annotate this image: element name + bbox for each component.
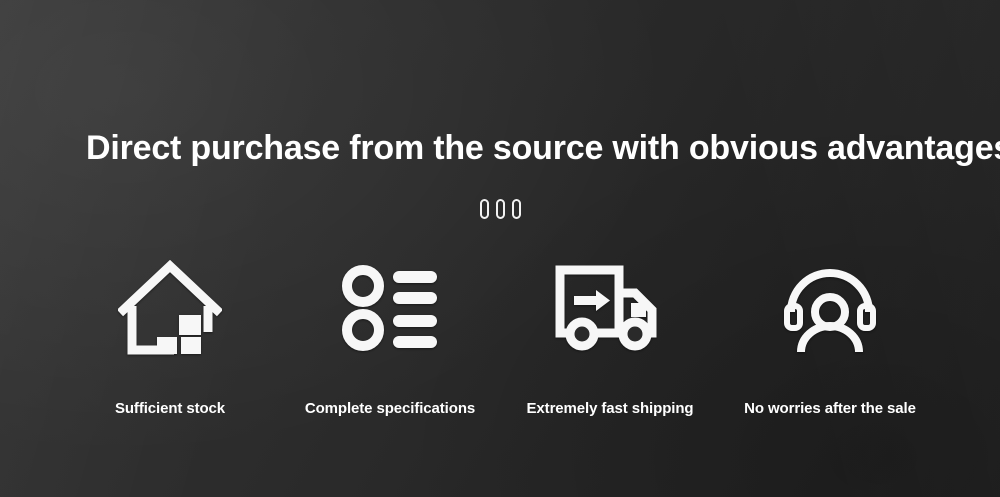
customer-support-headset-icon — [781, 258, 879, 358]
feature-item-complete-specifications: Complete specifications — [280, 258, 500, 417]
feature-label: Sufficient stock — [115, 400, 225, 417]
delivery-truck-icon — [555, 258, 665, 358]
feature-item-sufficient-stock: Sufficient stock — [60, 258, 280, 417]
feature-label: Complete specifications — [305, 400, 475, 417]
feature-list: Sufficient stock Complete specificat — [60, 258, 940, 417]
warehouse-icon — [118, 258, 222, 358]
feature-item-extremely-fast-shipping: Extremely fast shipping — [500, 258, 720, 417]
decorative-divider — [0, 196, 1000, 222]
page-title: Direct purchase from the source with obv… — [86, 127, 926, 169]
feature-label: Extremely fast shipping — [527, 400, 694, 417]
divider-pip-3-icon — [512, 199, 521, 219]
background-sheen — [0, 0, 1000, 497]
divider-pip-1-icon — [480, 199, 489, 219]
promo-banner: Direct purchase from the source with obv… — [0, 0, 1000, 497]
specification-list-icon — [340, 258, 440, 358]
feature-label: No worries after the sale — [744, 400, 916, 417]
divider-pip-2-icon — [496, 199, 505, 219]
feature-item-no-worries-after-the-sale: No worries after the sale — [720, 258, 940, 417]
